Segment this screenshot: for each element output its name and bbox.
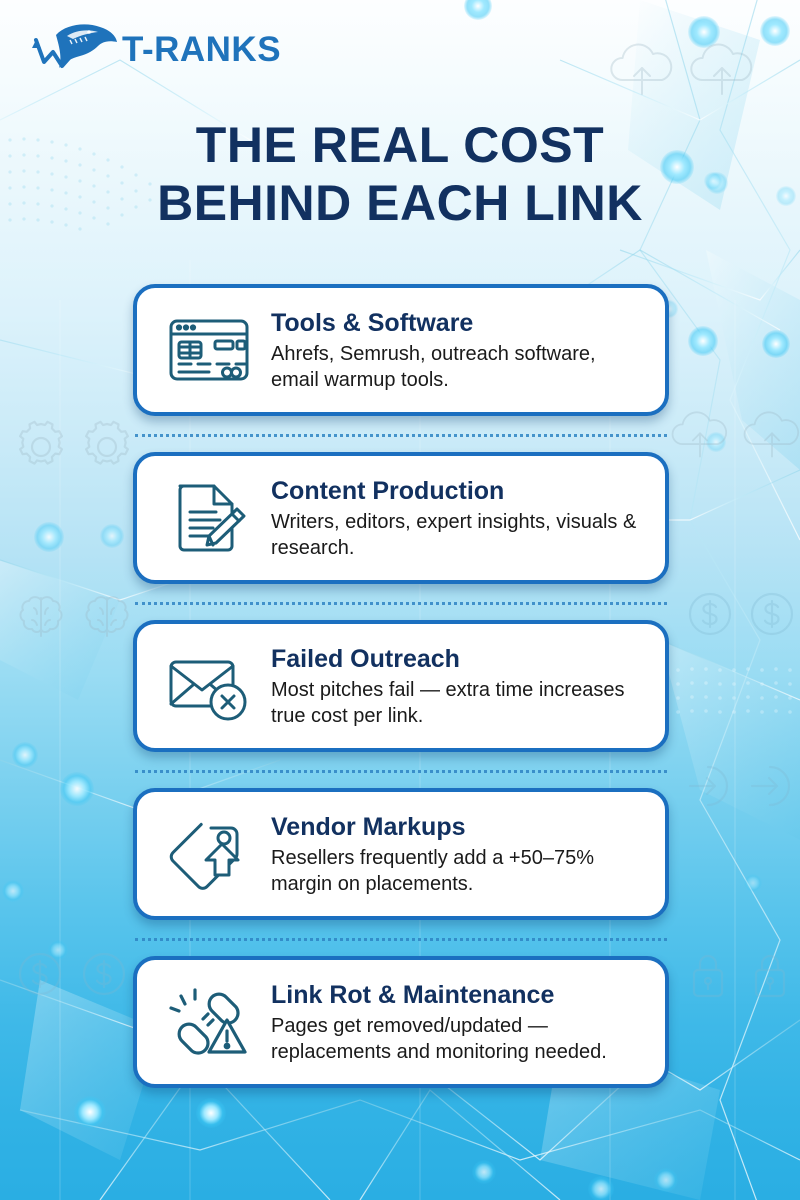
card-icon-slot xyxy=(151,638,267,734)
list-item: Content Production Writers, editors, exp… xyxy=(133,452,669,584)
card-vendor-markups[interactable]: Vendor Markups Resellers frequently add … xyxy=(133,788,669,920)
card-title: Link Rot & Maintenance xyxy=(271,980,647,1010)
browser-card-dashboard-icon xyxy=(165,314,253,386)
card-title: Failed Outreach xyxy=(271,644,647,674)
card-description: Writers, editors, expert insights, visua… xyxy=(271,509,647,561)
card-title: Vendor Markups xyxy=(271,812,647,842)
list-item: Vendor Markups Resellers frequently add … xyxy=(133,788,669,920)
card-link-rot-maintenance[interactable]: Link Rot & Maintenance Pages get removed… xyxy=(133,956,669,1088)
card-text: Tools & Software Ahrefs, Semrush, outrea… xyxy=(267,308,647,393)
card-title: Content Production xyxy=(271,476,647,506)
card-tools-software[interactable]: Tools & Software Ahrefs, Semrush, outrea… xyxy=(133,284,669,416)
card-icon-slot xyxy=(151,974,267,1070)
card-description: Ahrefs, Semrush, outreach software, emai… xyxy=(271,341,647,393)
brand-name: T-RANKS xyxy=(122,32,281,67)
card-text: Vendor Markups Resellers frequently add … xyxy=(267,812,647,897)
card-text: Link Rot & Maintenance Pages get removed… xyxy=(267,980,647,1065)
shark-growth-arrow-logo-icon xyxy=(26,18,118,80)
list-item: Tools & Software Ahrefs, Semrush, outrea… xyxy=(133,284,669,416)
cost-factor-list: Tools & Software Ahrefs, Semrush, outrea… xyxy=(133,284,669,1088)
card-description: Pages get removed/updated — replacements… xyxy=(271,1013,647,1065)
broken-chain-warning-icon xyxy=(165,984,253,1060)
list-item: Failed Outreach Most pitches fail — extr… xyxy=(133,620,669,752)
card-icon-slot xyxy=(151,806,267,902)
card-failed-outreach[interactable]: Failed Outreach Most pitches fail — extr… xyxy=(133,620,669,752)
list-item: Link Rot & Maintenance Pages get removed… xyxy=(133,956,669,1088)
divider xyxy=(133,920,669,956)
card-content-production[interactable]: Content Production Writers, editors, exp… xyxy=(133,452,669,584)
page-title-line-2: BEHIND EACH LINK xyxy=(0,174,800,232)
card-icon-slot xyxy=(151,470,267,566)
page-title-line-1: THE REAL COST xyxy=(0,116,800,174)
card-description: Resellers frequently add a +50–75% margi… xyxy=(271,845,647,897)
page-title: THE REAL COST BEHIND EACH LINK xyxy=(0,116,800,232)
card-text: Failed Outreach Most pitches fail — extr… xyxy=(267,644,647,729)
envelope-error-icon xyxy=(165,650,253,722)
brand-logo[interactable]: T-RANKS xyxy=(26,18,281,80)
card-title: Tools & Software xyxy=(271,308,647,338)
divider xyxy=(133,416,669,452)
divider xyxy=(133,584,669,620)
card-description: Most pitches fail — extra time increases… xyxy=(271,677,647,729)
price-tag-up-arrow-icon xyxy=(165,816,253,892)
document-pencil-icon xyxy=(168,478,250,558)
card-icon-slot xyxy=(151,302,267,398)
card-text: Content Production Writers, editors, exp… xyxy=(267,476,647,561)
divider xyxy=(133,752,669,788)
